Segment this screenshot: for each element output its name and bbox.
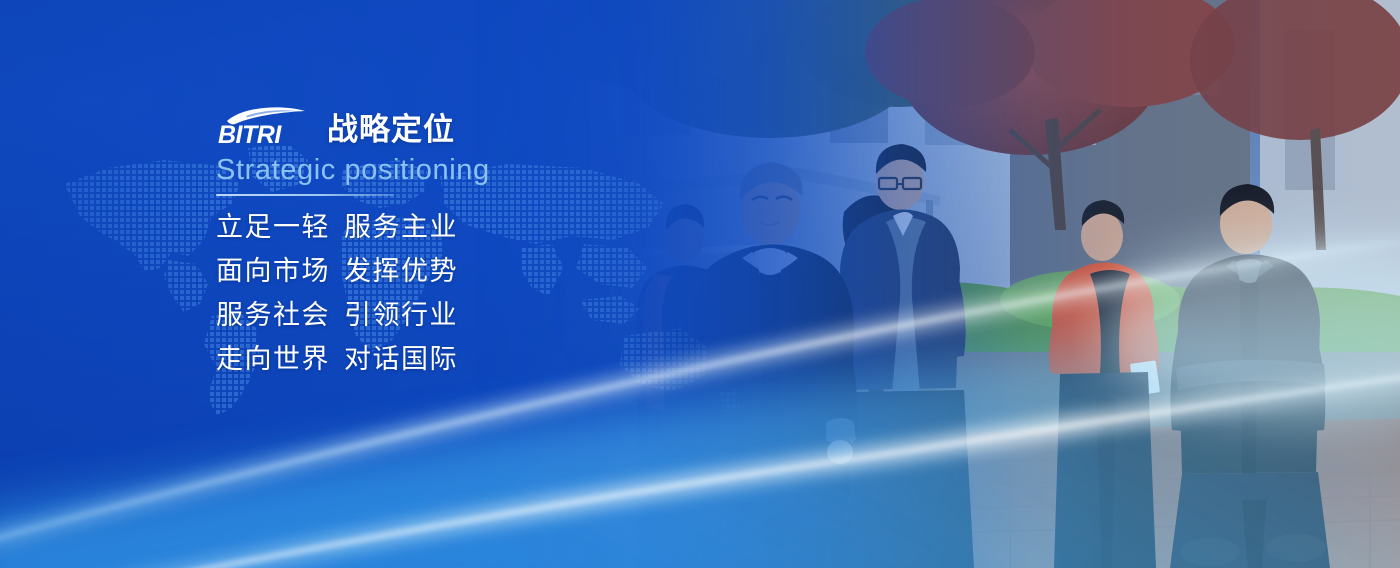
slogan-3-left: 服务社会 (216, 302, 344, 329)
strategic-positioning-banner: BITRI 战略定位 Strategic positioning 立足一轻 服务… (0, 0, 1400, 568)
bitri-logo[interactable]: BITRI (216, 106, 314, 148)
slogan-list: 立足一轻 服务主业 面向市场 发挥优势 服务社会 引领行业 走向世界 对话国际 (216, 214, 776, 373)
banner-title-cn: 战略定位 (327, 114, 455, 148)
slogan-2-left: 面向市场 (216, 258, 344, 285)
slogan-row-3: 服务社会 引领行业 (216, 302, 776, 329)
slogan-row-2: 面向市场 发挥优势 (216, 258, 776, 285)
slogan-1-right: 服务主业 (344, 214, 458, 241)
slogan-2-right: 发挥优势 (344, 258, 458, 285)
brand-row: BITRI 战略定位 (216, 104, 776, 148)
swoosh-arc-icon: BITRI (216, 106, 314, 148)
slogan-4-right: 对话国际 (344, 346, 458, 373)
slogan-3-right: 引领行业 (344, 302, 458, 329)
title-divider (216, 194, 394, 196)
slogan-1-left: 立足一轻 (216, 214, 344, 241)
svg-text:BITRI: BITRI (218, 121, 282, 148)
banner-text-block: BITRI 战略定位 Strategic positioning 立足一轻 服务… (216, 104, 776, 373)
slogan-row-1: 立足一轻 服务主业 (216, 214, 776, 241)
slogan-row-4: 走向世界 对话国际 (216, 346, 776, 373)
slogan-4-left: 走向世界 (216, 346, 344, 373)
banner-subtitle-en: Strategic positioning (216, 155, 776, 185)
